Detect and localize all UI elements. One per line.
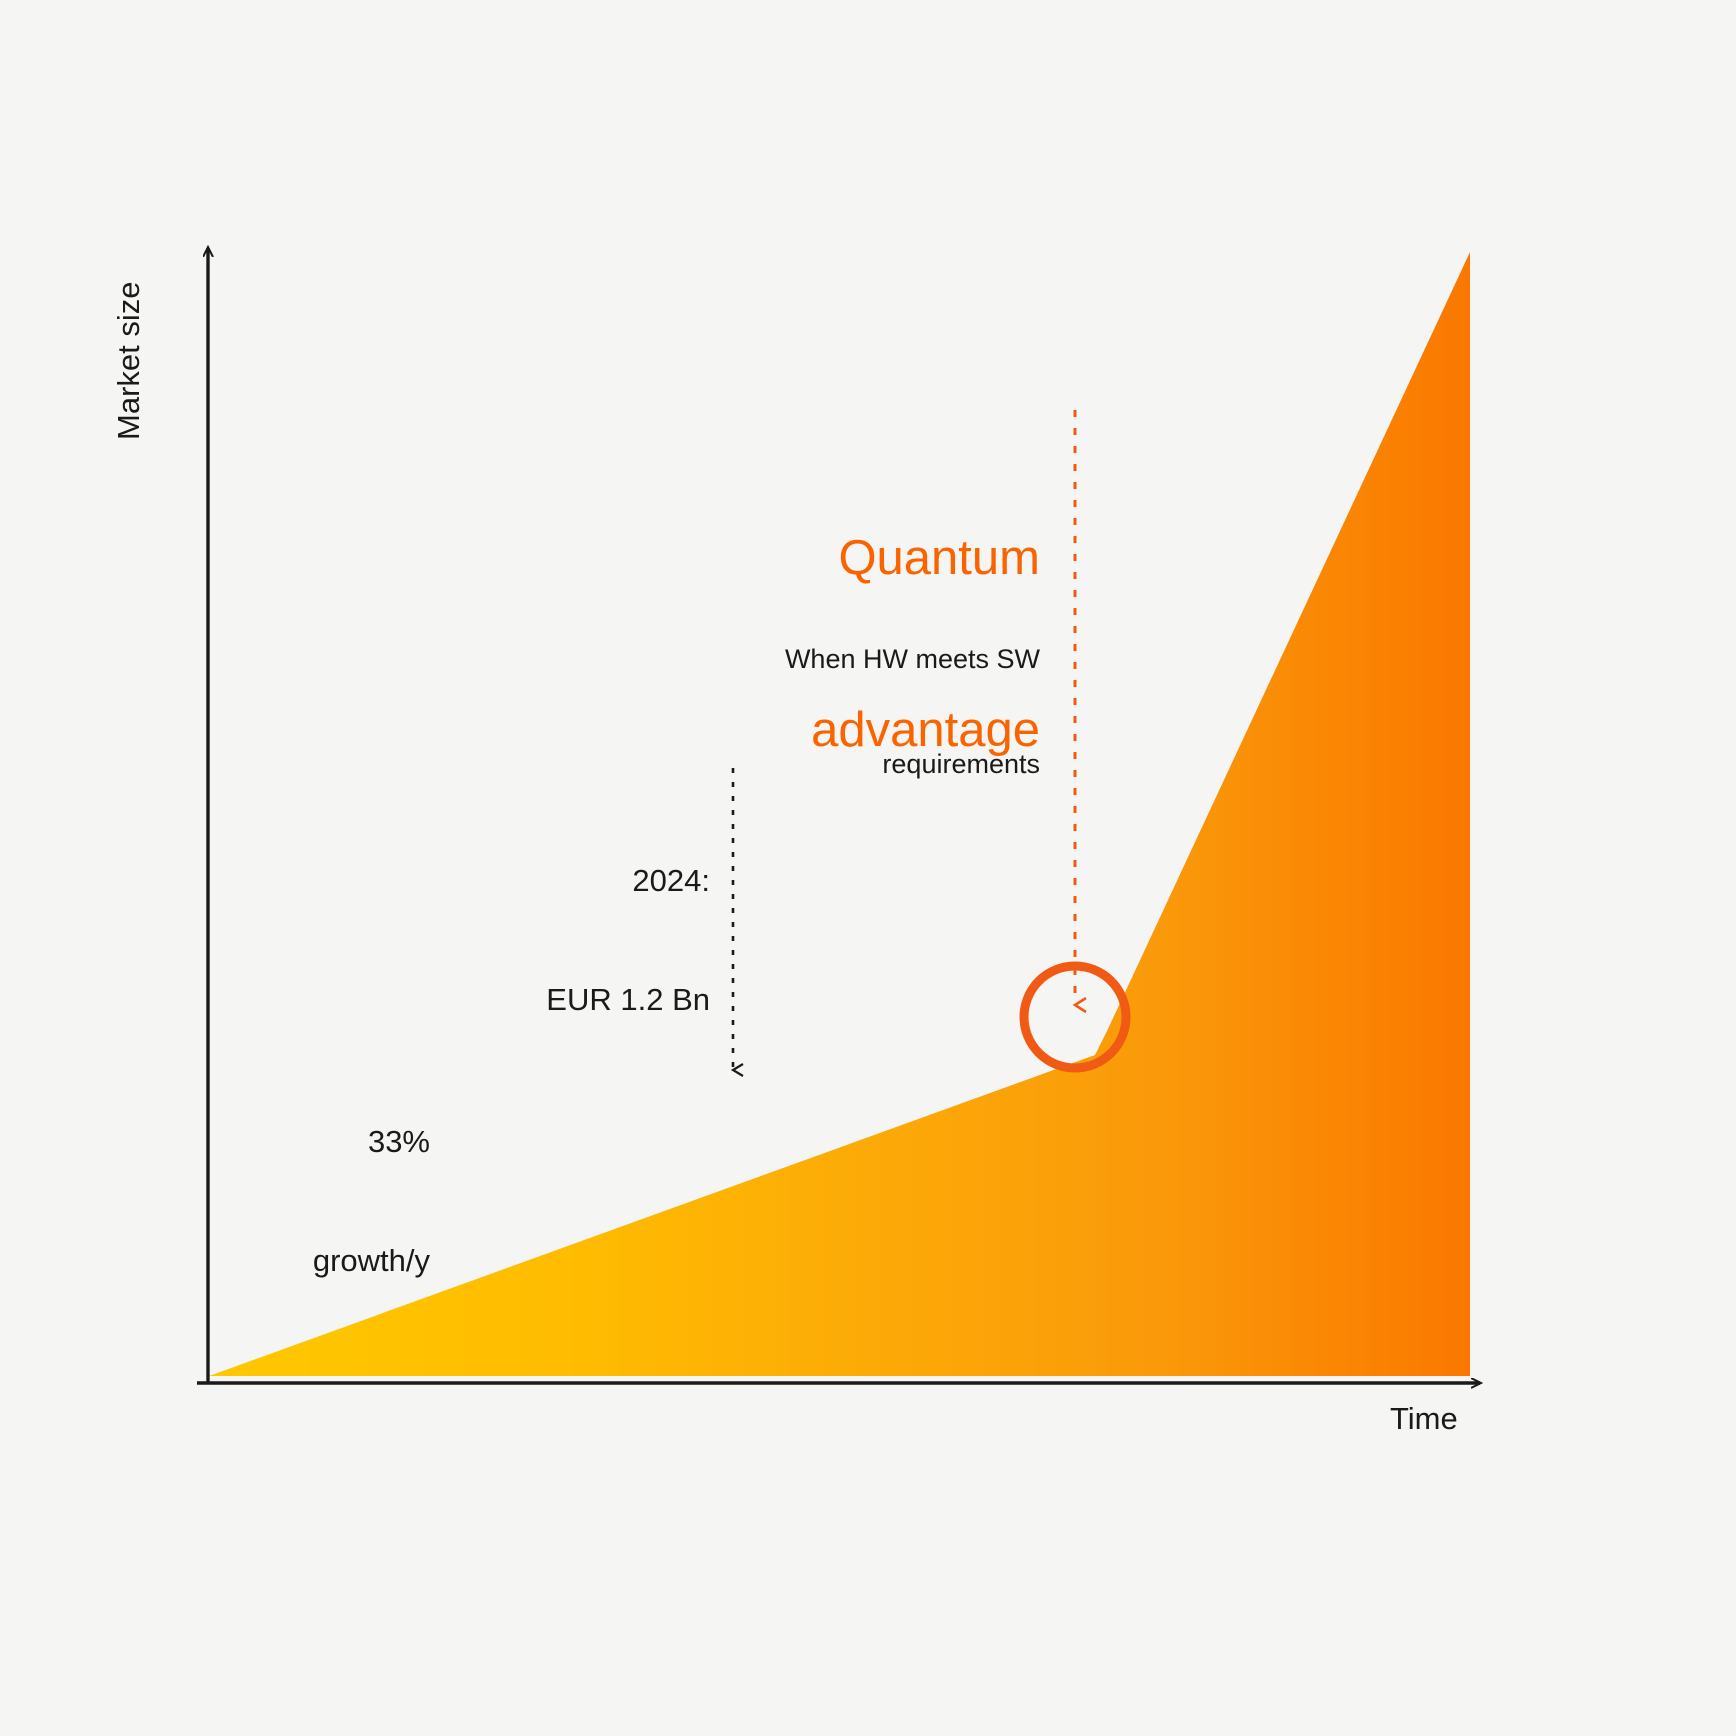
y-axis-title: Market size (110, 240, 148, 440)
market-value-2024-amount: EUR 1.2 Bn (380, 980, 710, 1020)
growth-rate-value: 33% (150, 1122, 430, 1162)
chart-canvas: Market size Time Quantum advantage When … (0, 0, 1736, 1736)
growth-rate-label: 33% growth/y (150, 1043, 430, 1360)
inflection-highlight-circle (1024, 966, 1126, 1068)
market-value-2024-year: 2024: (380, 861, 710, 901)
quantum-advantage-subtitle-line1: When HW meets SW (620, 642, 1040, 677)
growth-rate-unit: growth/y (150, 1241, 430, 1281)
quantum-advantage-subtitle-line2: requirements (620, 747, 1040, 782)
x-axis-title: Time (1390, 1400, 1458, 1438)
